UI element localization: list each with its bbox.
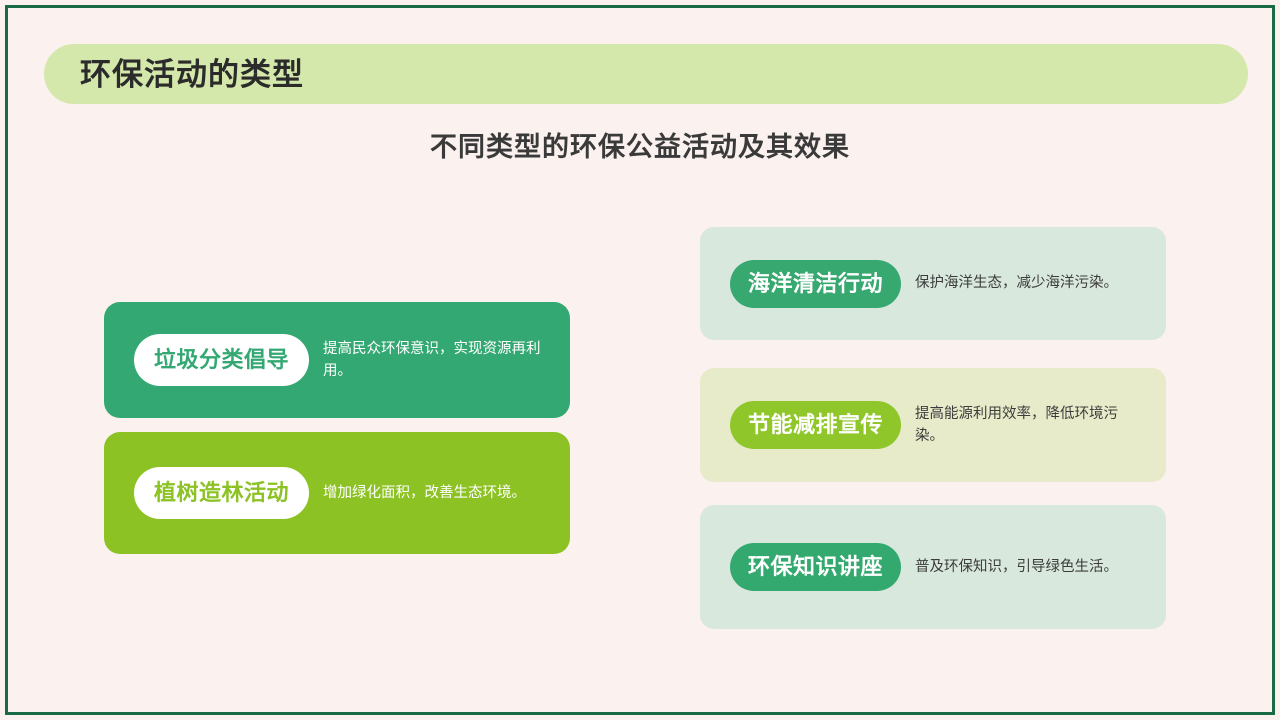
left-card-column: 垃圾分类倡导 提高民众环保意识，实现资源再利用。 植树造林活动 增加绿化面积，改… bbox=[104, 302, 570, 554]
activity-label-pill: 节能减排宣传 bbox=[730, 401, 901, 449]
activity-label: 植树造林活动 bbox=[154, 482, 289, 504]
slide-canvas: 环保活动的类型 不同类型的环保公益活动及其效果 垃圾分类倡导 提高民众环保意识，… bbox=[0, 0, 1280, 720]
activity-card-waste-sorting[interactable]: 垃圾分类倡导 提高民众环保意识，实现资源再利用。 bbox=[104, 302, 570, 418]
activity-description: 保护海洋生态，减少海洋污染。 bbox=[915, 272, 1126, 294]
activity-label-pill: 垃圾分类倡导 bbox=[134, 334, 309, 386]
activity-card-energy-saving[interactable]: 节能减排宣传 提高能源利用效率，降低环境污染。 bbox=[700, 368, 1166, 482]
activity-label-pill: 植树造林活动 bbox=[134, 467, 309, 519]
page-title-banner: 环保活动的类型 bbox=[44, 44, 1248, 104]
activity-label: 垃圾分类倡导 bbox=[154, 349, 289, 371]
activity-description: 普及环保知识，引导绿色生活。 bbox=[915, 556, 1126, 578]
activity-label: 海洋清洁行动 bbox=[748, 273, 883, 295]
activity-card-ocean-cleanup[interactable]: 海洋清洁行动 保护海洋生态，减少海洋污染。 bbox=[700, 227, 1166, 340]
activity-label-pill: 海洋清洁行动 bbox=[730, 260, 901, 308]
activity-card-eco-lecture[interactable]: 环保知识讲座 普及环保知识，引导绿色生活。 bbox=[700, 505, 1166, 629]
activity-description: 增加绿化面积，改善生态环境。 bbox=[323, 482, 534, 504]
activity-label: 环保知识讲座 bbox=[748, 556, 883, 578]
activity-card-afforestation[interactable]: 植树造林活动 增加绿化面积，改善生态环境。 bbox=[104, 432, 570, 554]
activity-description: 提高能源利用效率，降低环境污染。 bbox=[915, 403, 1150, 448]
page-title: 环保活动的类型 bbox=[80, 59, 304, 90]
page-subtitle: 不同类型的环保公益活动及其效果 bbox=[0, 125, 1280, 164]
activity-description: 提高民众环保意识，实现资源再利用。 bbox=[323, 338, 552, 383]
activity-label-pill: 环保知识讲座 bbox=[730, 543, 901, 591]
right-card-column: 海洋清洁行动 保护海洋生态，减少海洋污染。 节能减排宣传 提高能源利用效率，降低… bbox=[700, 227, 1166, 629]
activity-label: 节能减排宣传 bbox=[748, 414, 883, 436]
